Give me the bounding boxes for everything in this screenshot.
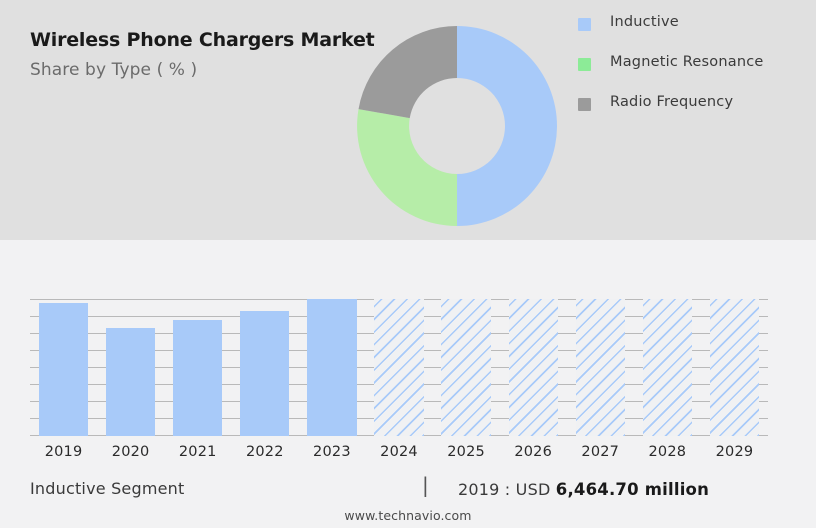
legend-item-magnetic-resonance[interactable]: Magnetic Resonance [578, 54, 808, 94]
donut-slice-magnetic-resonance [357, 109, 457, 226]
legend-swatch-radio-frequency [578, 98, 591, 111]
legend-swatch-inductive [578, 18, 591, 31]
legend-item-inductive[interactable]: Inductive [578, 14, 808, 54]
x-axis-label-2024: 2024 [365, 444, 432, 460]
page-subtitle: Share by Type ( % ) [30, 60, 197, 80]
legend-label-inductive: Inductive [610, 14, 679, 30]
footer-url: www.technavio.com [0, 508, 816, 523]
x-axis-label-2022: 2022 [231, 444, 298, 460]
footer-divider: | [422, 474, 429, 496]
bar-chart-x-axis-labels: 2019202020212022202320242025202620272028… [30, 444, 768, 466]
bar-forecast-2027[interactable] [576, 299, 625, 436]
bar-chart-bars [30, 299, 768, 436]
bar-2022[interactable] [240, 311, 289, 436]
donut-chart [357, 26, 557, 226]
x-axis-label-2029: 2029 [701, 444, 768, 460]
footer-value-amount: 6,464.70 million [556, 480, 709, 499]
x-axis-label-2028: 2028 [634, 444, 701, 460]
footer-value: 2019 : USD 6,464.70 million [458, 480, 709, 499]
x-axis-label-2026: 2026 [500, 444, 567, 460]
donut-slice-inductive [457, 26, 557, 226]
legend-label-radio-frequency: Radio Frequency [610, 94, 733, 110]
legend-swatch-magnetic-resonance [578, 58, 591, 71]
bar-2021[interactable] [173, 320, 222, 436]
x-axis-label-2027: 2027 [567, 444, 634, 460]
x-axis-label-2020: 2020 [97, 444, 164, 460]
donut-chart-svg [357, 26, 557, 226]
bar-2020[interactable] [106, 328, 155, 436]
bar-chart-plot-area [30, 299, 768, 436]
x-axis-label-2025: 2025 [433, 444, 500, 460]
bar-2019[interactable] [39, 303, 88, 436]
bar-forecast-2025[interactable] [441, 299, 490, 436]
bar-forecast-2028[interactable] [643, 299, 692, 436]
footer-value-prefix: 2019 : USD [458, 480, 550, 499]
legend-item-radio-frequency[interactable]: Radio Frequency [578, 94, 808, 134]
x-axis-label-2023: 2023 [298, 444, 365, 460]
x-axis-label-2021: 2021 [164, 444, 231, 460]
bar-2023[interactable] [307, 299, 356, 436]
bar-forecast-2029[interactable] [710, 299, 759, 436]
legend-label-magnetic-resonance: Magnetic Resonance [610, 54, 764, 70]
page-title: Wireless Phone Chargers Market [30, 29, 375, 51]
bar-forecast-2026[interactable] [509, 299, 558, 436]
x-axis-label-2019: 2019 [30, 444, 97, 460]
bar-forecast-2024[interactable] [374, 299, 423, 436]
donut-legend: Inductive Magnetic Resonance Radio Frequ… [578, 14, 808, 134]
donut-slice-radio-frequency [359, 26, 457, 118]
footer-segment-label: Inductive Segment [30, 479, 184, 498]
